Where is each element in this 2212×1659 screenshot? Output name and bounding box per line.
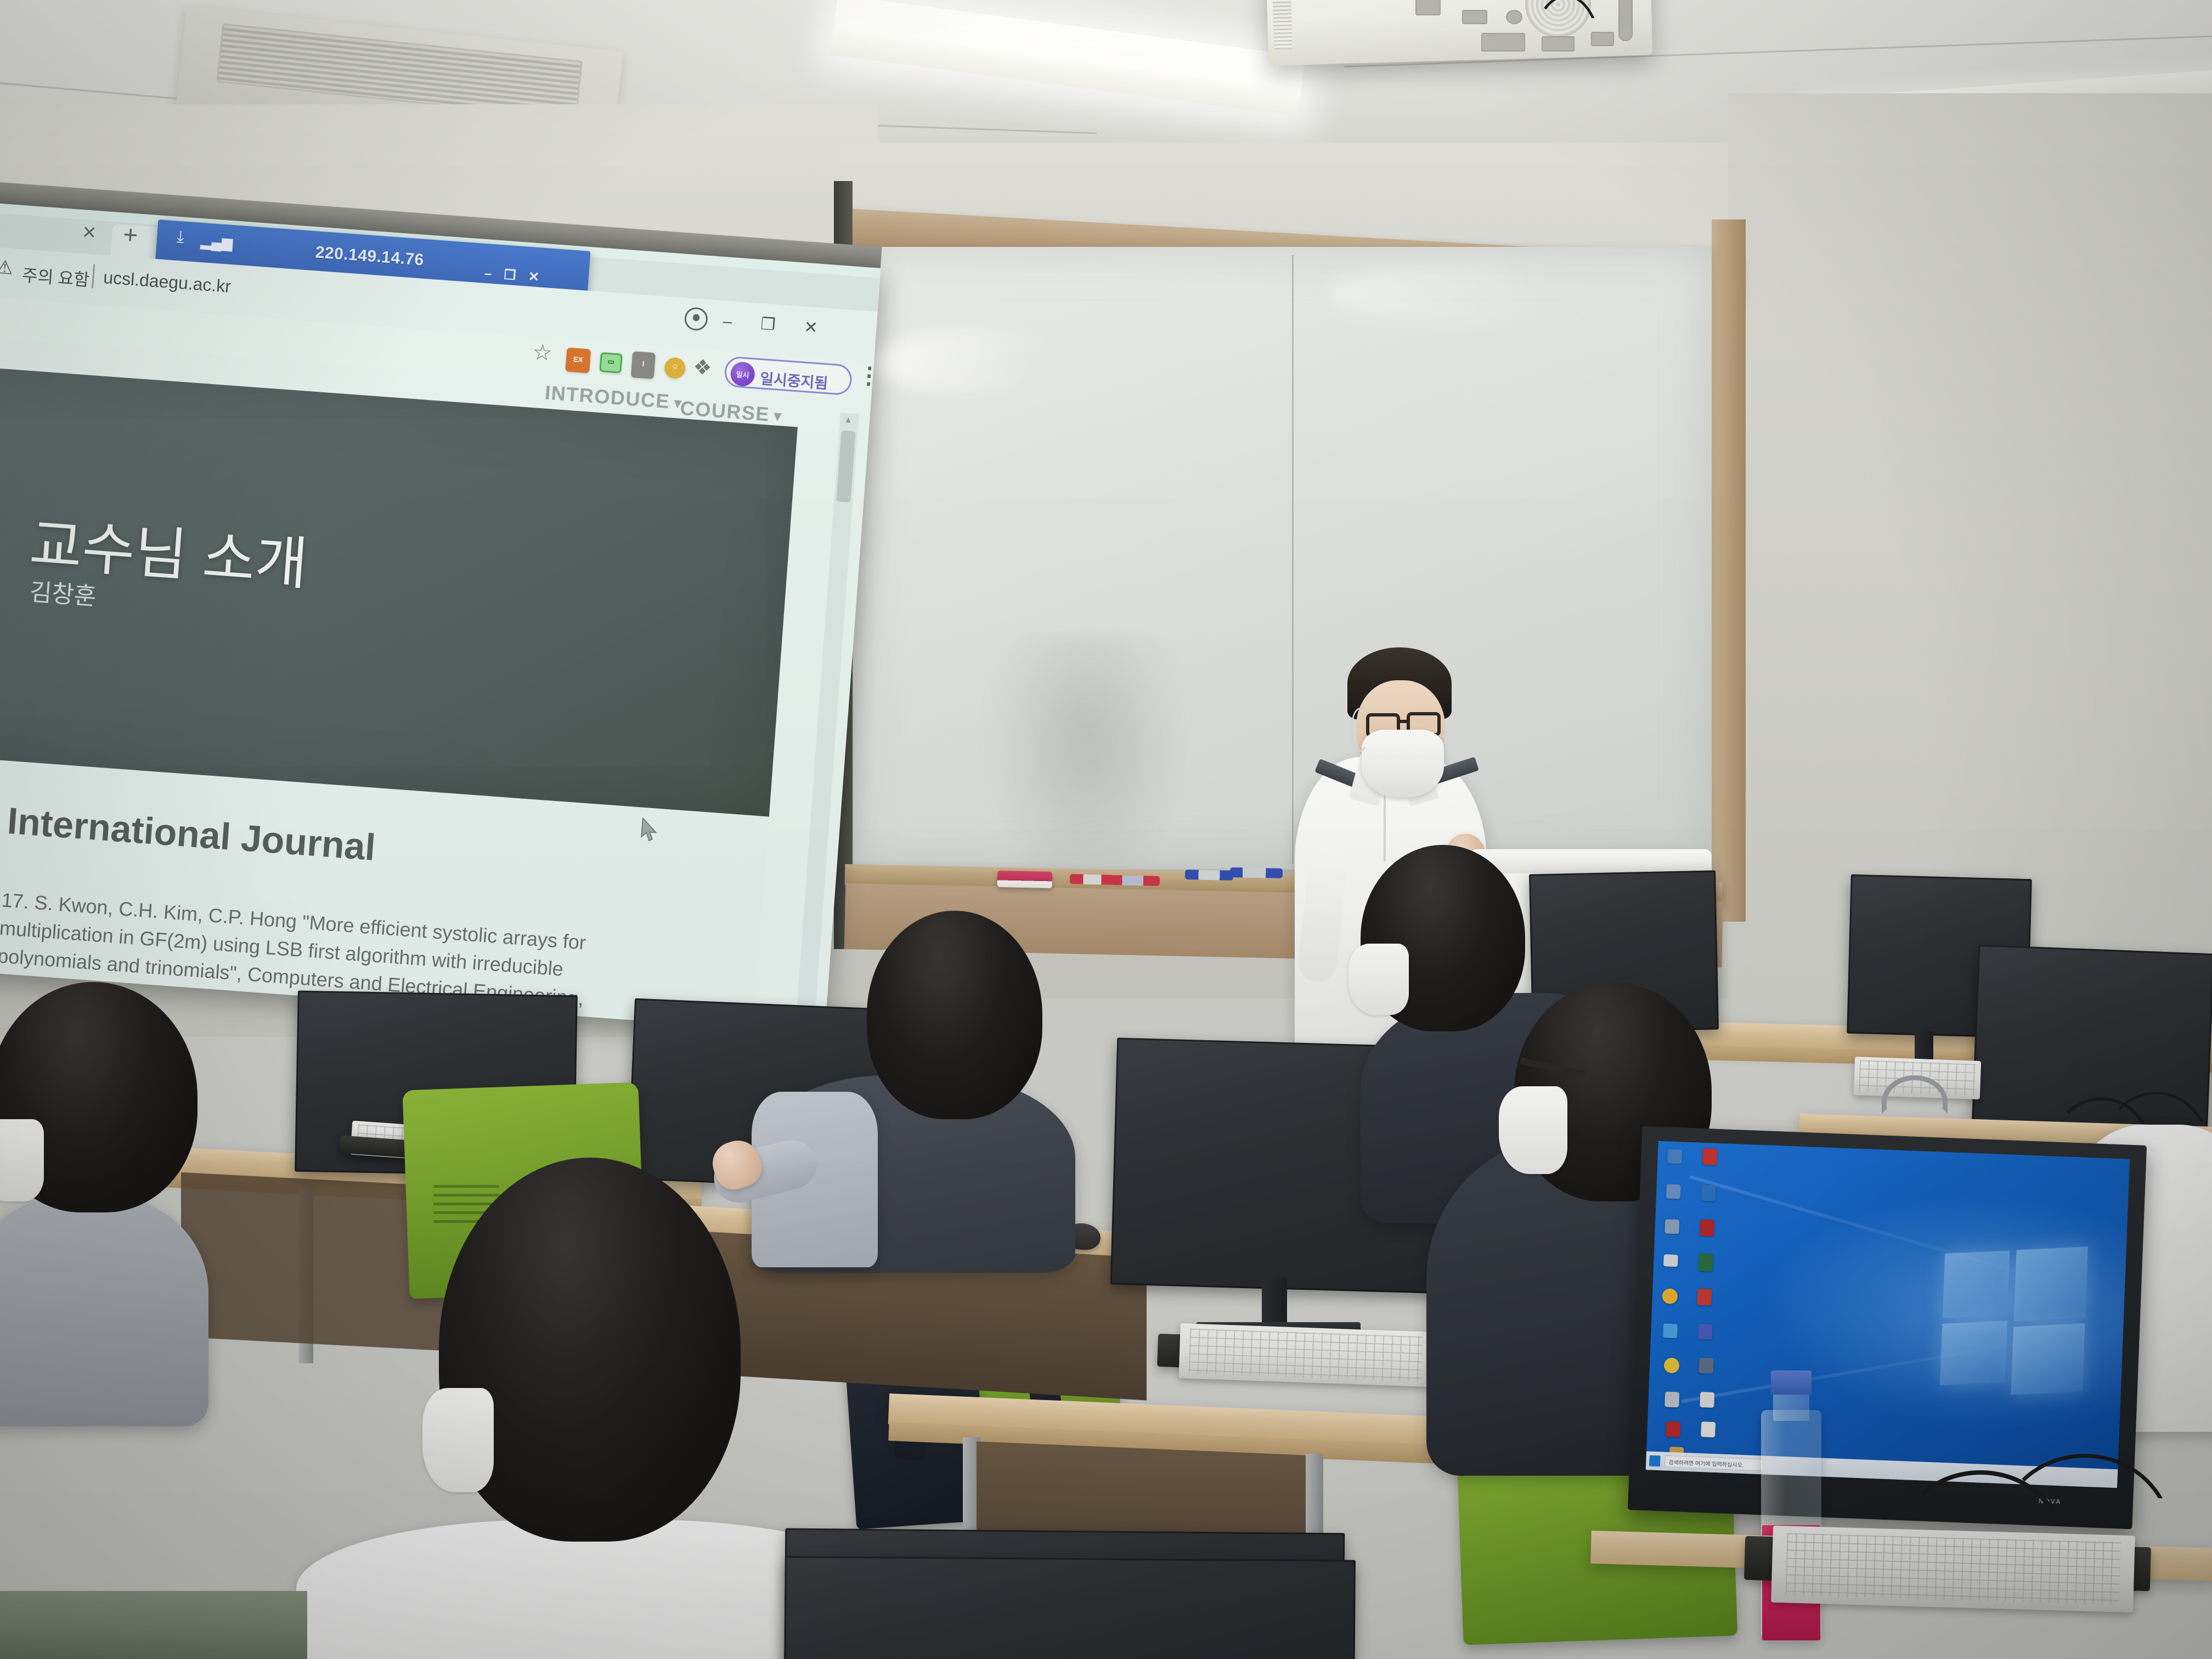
extension-gray-label: I xyxy=(631,359,655,369)
wallpaper-light-ray xyxy=(1689,1175,2069,1289)
projector-port xyxy=(1415,0,1441,15)
slide-subtitle: 김창훈 xyxy=(29,572,98,612)
desktop-icon[interactable] xyxy=(1697,1289,1712,1306)
desktop-icon[interactable] xyxy=(1666,1184,1681,1199)
monitor-foreground-center xyxy=(784,1556,1356,1659)
windows-desktop-screen[interactable]: 검색하려면 여기에 입력하십시오. xyxy=(1646,1141,2130,1488)
remote-signal-icon: ▂▄▆ xyxy=(200,233,234,252)
projector-port xyxy=(1506,10,1522,24)
presenter-glasses-bridge xyxy=(1400,720,1408,723)
desktop-icon[interactable] xyxy=(1663,1254,1678,1267)
extension-green-icon[interactable]: ▭ xyxy=(599,352,623,374)
paused-badge-dot: 일시 xyxy=(730,361,755,387)
projector-port xyxy=(1462,10,1487,24)
student-head-center xyxy=(867,911,1042,1119)
chevron-down-icon: ▾ xyxy=(774,408,783,425)
extensions-puzzle-icon[interactable]: ❖ xyxy=(692,354,713,380)
desktop-icon[interactable] xyxy=(1667,1149,1682,1164)
extension-yellow-label: ☺ xyxy=(664,361,686,371)
projector-port xyxy=(1481,33,1525,52)
tab-close-icon[interactable]: × xyxy=(82,218,97,246)
mouse-pointer-icon xyxy=(640,817,660,844)
windows-search-placeholder: 검색하려면 여기에 입력하십시오. xyxy=(1668,1457,1744,1468)
whiteboard-light-reflection xyxy=(867,329,1119,395)
windows-logo-pane xyxy=(1940,1321,2007,1385)
extension-gray-icon[interactable]: I xyxy=(631,351,656,379)
monitor-bezel xyxy=(784,1556,1356,1659)
desktop-icon[interactable] xyxy=(1701,1421,1716,1437)
slide-hero-dark xyxy=(0,364,798,819)
presenter-shirt-placket xyxy=(1384,795,1386,861)
desktop-icon[interactable] xyxy=(1664,1357,1680,1373)
paused-badge-dot-label: 일시 xyxy=(730,368,755,380)
windows-start-button[interactable] xyxy=(1649,1455,1661,1467)
security-warning-text[interactable]: 주의 요함 xyxy=(21,261,91,291)
desktop-icon[interactable] xyxy=(1666,1421,1680,1437)
student-mask-right-2 xyxy=(1499,1086,1567,1174)
desktop-icon[interactable] xyxy=(1700,1392,1714,1408)
desktop-icon[interactable] xyxy=(1699,1254,1713,1272)
marker-red-2[interactable] xyxy=(1111,875,1160,886)
desktop-icon[interactable] xyxy=(1700,1220,1714,1237)
remote-pin-icon[interactable]: ⤓ xyxy=(176,228,185,247)
board-eraser[interactable] xyxy=(997,871,1053,888)
lecture-room-photo: ◦◦◦ × + ⤓ ▂▄▆ 220.149.14.76 – xyxy=(0,0,2212,1659)
desktop-icon[interactable] xyxy=(1699,1358,1714,1374)
desktop-icon[interactable] xyxy=(1663,1323,1678,1338)
desktop-icon[interactable] xyxy=(1701,1184,1716,1201)
student-mask-left-1 xyxy=(0,1119,44,1201)
scroll-up-icon[interactable]: ▲ xyxy=(843,415,853,426)
marker-blue-1[interactable] xyxy=(1185,870,1233,881)
new-tab-icon[interactable]: + xyxy=(122,219,139,250)
extension-green-label: ▭ xyxy=(601,357,620,366)
paused-badge-text: 일시중지됨 xyxy=(759,366,829,393)
projector-vent xyxy=(1272,0,1293,49)
presenter-face-mask xyxy=(1362,730,1444,798)
desktop-icon[interactable] xyxy=(1662,1288,1678,1304)
extension-orange-icon[interactable]: EX xyxy=(565,347,591,373)
lectern-top-surface xyxy=(1470,849,1712,873)
keyboard-mid-front[interactable] xyxy=(1178,1323,1432,1387)
whiteboard-reflection-silhouette xyxy=(982,636,1190,894)
student-mask-left-2 xyxy=(422,1388,494,1492)
floor xyxy=(0,1591,307,1659)
projection-screen: × + ⤓ ▂▄▆ 220.149.14.76 – ❐ ✕ ⚠ 주의 요함 uc… xyxy=(0,202,881,1034)
marker-blue-2[interactable] xyxy=(1230,867,1283,878)
wood-wall-post xyxy=(1712,219,1746,922)
whiteboard-seam xyxy=(1292,255,1294,864)
extension-orange-label: EX xyxy=(566,354,590,364)
desktop-icon[interactable] xyxy=(1664,1392,1679,1408)
water-bottle-cap[interactable] xyxy=(1771,1370,1812,1395)
desktop-icon[interactable] xyxy=(1664,1219,1679,1234)
windows-logo-pane xyxy=(1943,1250,2010,1318)
marker-red-1[interactable] xyxy=(1070,874,1115,885)
windows-logo-pane xyxy=(2011,1323,2085,1395)
whiteboard-light-reflection xyxy=(1328,263,1635,324)
desktop-icon[interactable] xyxy=(1698,1324,1713,1340)
presenter-mask-ear-loop xyxy=(1351,708,1369,752)
student-mask-right-1 xyxy=(1348,944,1409,1015)
student-torso-left-1 xyxy=(0,1196,208,1426)
desktop-icon[interactable] xyxy=(1702,1148,1717,1165)
windows-logo-pane xyxy=(2014,1246,2088,1321)
security-warning-icon: ⚠ xyxy=(0,256,14,279)
bookmark-star-icon[interactable]: ☆ xyxy=(532,340,553,366)
